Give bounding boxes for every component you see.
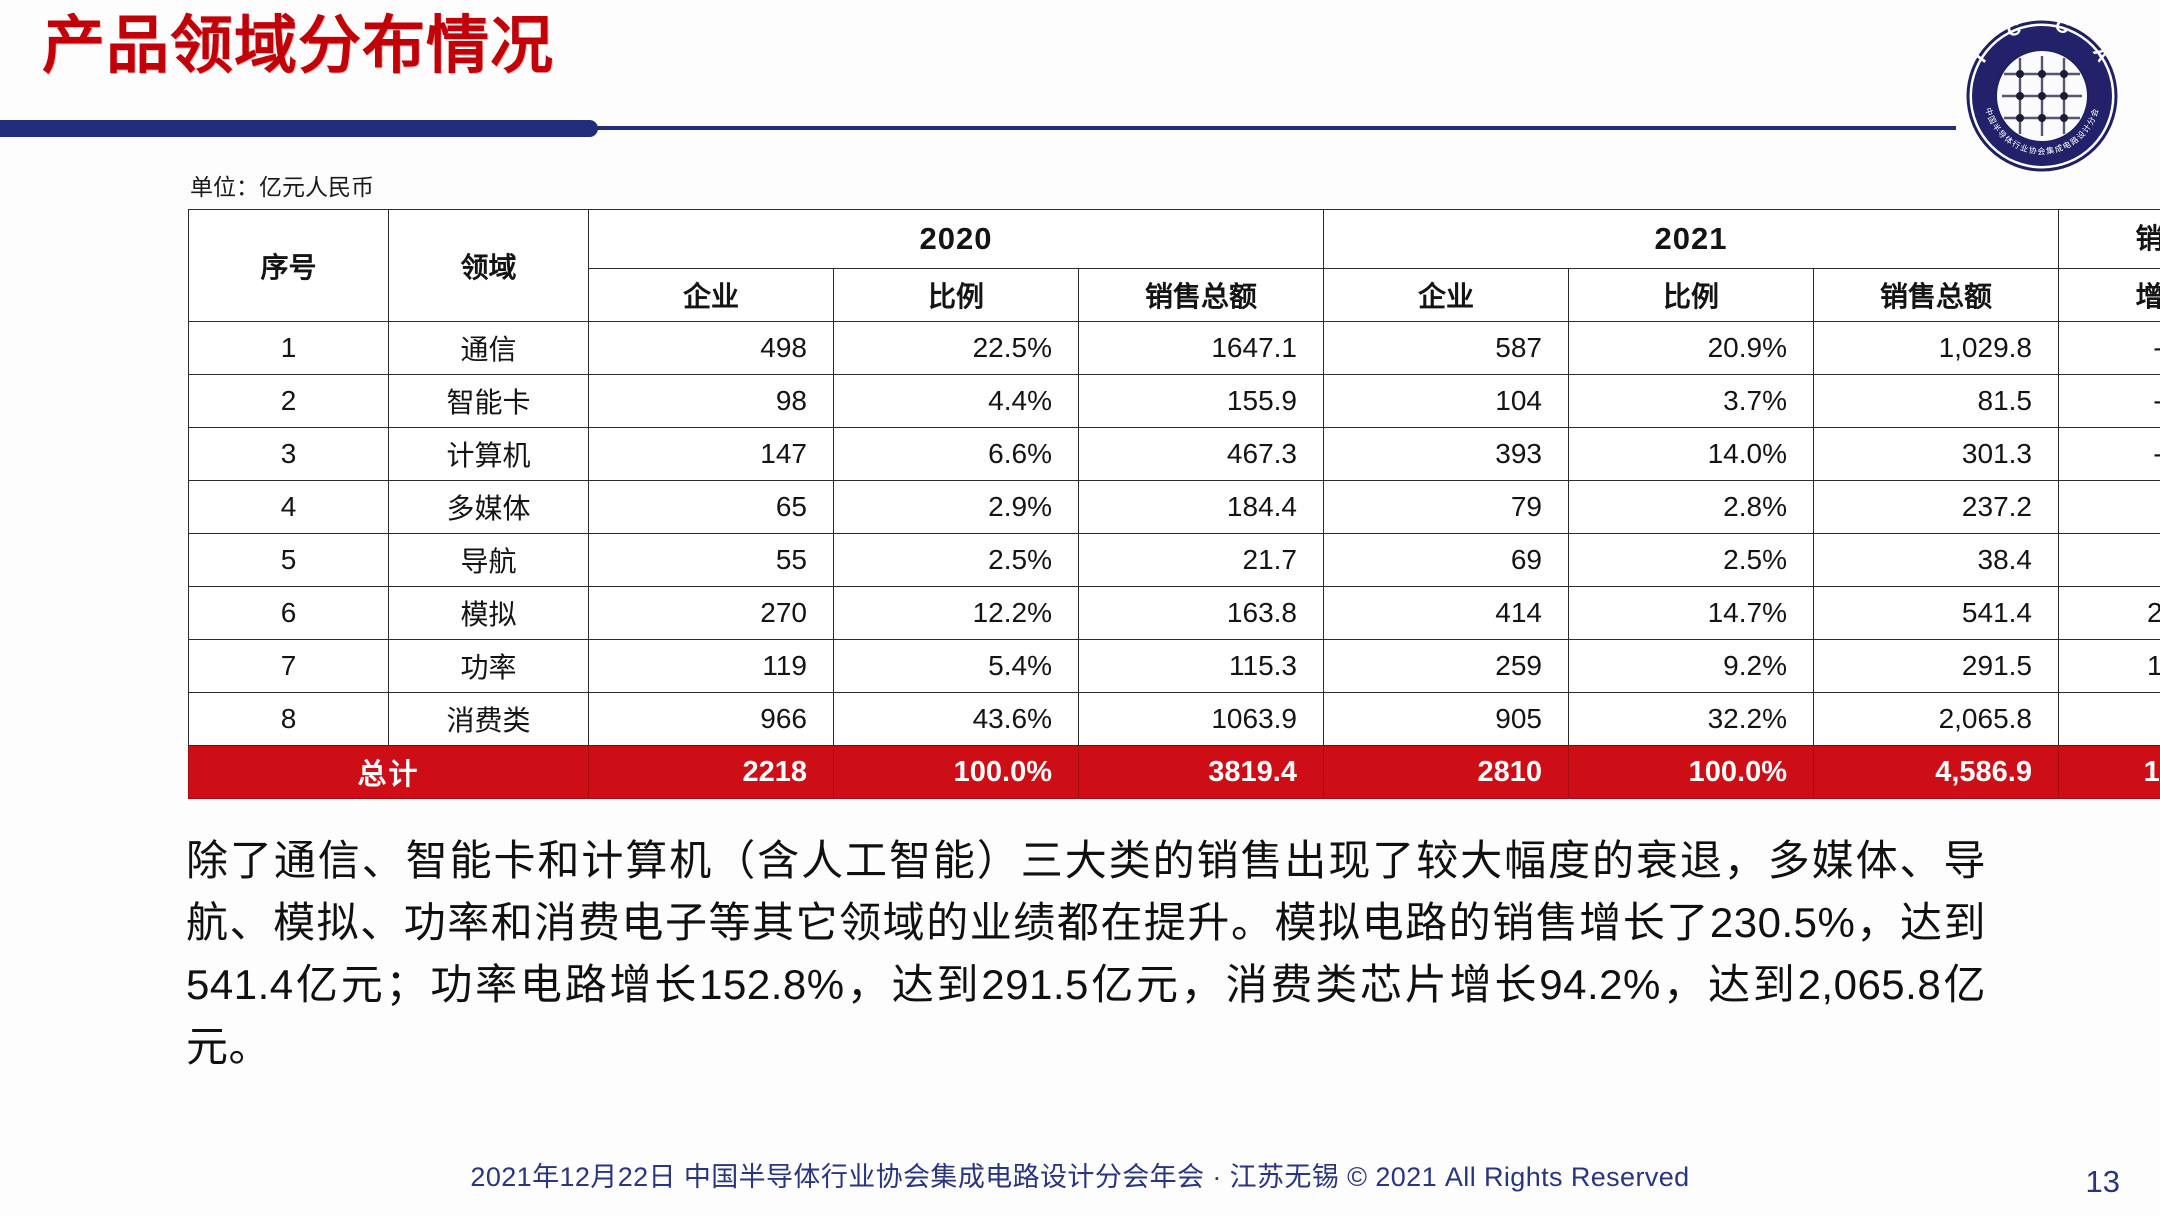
cell-field: 通信 xyxy=(389,322,589,375)
table-row: 4 多媒体 65 2.9% 184.4 79 2.8% 237.2 28.6% xyxy=(189,481,2160,534)
cell-index: 6 xyxy=(189,587,389,640)
cell-ent-2020: 270 xyxy=(589,587,834,640)
cell-pct-2021: 32.2% xyxy=(1569,693,1814,746)
table-row: 8 消费类 966 43.6% 1063.9 905 32.2% 2,065.8… xyxy=(189,693,2160,746)
cell-total-ent-2021: 2810 xyxy=(1324,746,1569,799)
cell-pct-2020: 12.2% xyxy=(834,587,1079,640)
cell-ent-2021: 104 xyxy=(1324,375,1569,428)
cell-index: 5 xyxy=(189,534,389,587)
cell-sales-2020: 1063.9 xyxy=(1079,693,1324,746)
cell-total-growth: 100.0% xyxy=(2059,746,2160,799)
unit-label: 单位：亿元人民币 xyxy=(190,168,374,202)
cell-growth: 28.6% xyxy=(2059,481,2160,534)
cell-growth: 77.0% xyxy=(2059,534,2160,587)
cell-pct-2020: 22.5% xyxy=(834,322,1079,375)
cell-pct-2021: 2.8% xyxy=(1569,481,1814,534)
th-ratio-2021: 比例 xyxy=(1569,269,1814,322)
th-sales-2020: 销售总额 xyxy=(1079,269,1324,322)
body-paragraph: 除了通信、智能卡和计算机（含人工智能）三大类的销售出现了较大幅度的衰退，多媒体、… xyxy=(186,830,1986,1079)
table-body: 1 通信 498 22.5% 1647.1 587 20.9% 1,029.8 … xyxy=(189,322,2160,799)
table-row: 1 通信 498 22.5% 1647.1 587 20.9% 1,029.8 … xyxy=(189,322,2160,375)
iccad-logo-icon: I C C A D 中国半导体行业协会集成电路设计分会 xyxy=(1954,8,2130,184)
cell-sales-2020: 21.7 xyxy=(1079,534,1324,587)
cell-index: 2 xyxy=(189,375,389,428)
cell-sales-2021: 291.5 xyxy=(1814,640,2059,693)
slide: 产品领域分布情况 xyxy=(0,0,2160,1216)
cell-ent-2020: 147 xyxy=(589,428,834,481)
cell-ent-2021: 259 xyxy=(1324,640,1569,693)
cell-index: 1 xyxy=(189,322,389,375)
cell-ent-2021: 393 xyxy=(1324,428,1569,481)
cell-pct-2021: 14.0% xyxy=(1569,428,1814,481)
cell-growth: -35.5% xyxy=(2059,428,2160,481)
cell-growth: 152.8% xyxy=(2059,640,2160,693)
cell-ent-2021: 79 xyxy=(1324,481,1569,534)
cell-ent-2020: 65 xyxy=(589,481,834,534)
cell-pct-2020: 2.9% xyxy=(834,481,1079,534)
table-row: 2 智能卡 98 4.4% 155.9 104 3.7% 81.5 -47.7% xyxy=(189,375,2160,428)
cell-sales-2021: 38.4 xyxy=(1814,534,2059,587)
cell-sales-2021: 2,065.8 xyxy=(1814,693,2059,746)
cell-ent-2021: 69 xyxy=(1324,534,1569,587)
cell-ent-2020: 55 xyxy=(589,534,834,587)
cell-pct-2020: 43.6% xyxy=(834,693,1079,746)
cell-sales-2020: 184.4 xyxy=(1079,481,1324,534)
cell-ent-2020: 119 xyxy=(589,640,834,693)
cell-field: 多媒体 xyxy=(389,481,589,534)
data-table: 序号 领域 2020 2021 销售 企业 比例 销售总额 企业 比例 销售总额… xyxy=(188,209,2160,799)
cell-field: 智能卡 xyxy=(389,375,589,428)
page-number: 13 xyxy=(2086,1164,2120,1200)
cell-total-ent-2020: 2218 xyxy=(589,746,834,799)
cell-index: 7 xyxy=(189,640,389,693)
table-header: 序号 领域 2020 2021 销售 企业 比例 销售总额 企业 比例 销售总额… xyxy=(189,210,2160,322)
cell-sales-2020: 467.3 xyxy=(1079,428,1324,481)
table-row: 7 功率 119 5.4% 115.3 259 9.2% 291.5 152.8… xyxy=(189,640,2160,693)
cell-index: 8 xyxy=(189,693,389,746)
th-group-2021: 2021 xyxy=(1324,210,2059,269)
cell-sales-2021: 301.3 xyxy=(1814,428,2059,481)
cell-pct-2020: 6.6% xyxy=(834,428,1079,481)
cell-sales-2021: 237.2 xyxy=(1814,481,2059,534)
cell-growth: -47.7% xyxy=(2059,375,2160,428)
th-field: 领域 xyxy=(389,210,589,322)
th-index: 序号 xyxy=(189,210,389,322)
cell-growth: 230.5% xyxy=(2059,587,2160,640)
cell-pct-2021: 3.7% xyxy=(1569,375,1814,428)
cell-ent-2021: 905 xyxy=(1324,693,1569,746)
iccad-logo: I C C A D 中国半导体行业协会集成电路设计分会 xyxy=(1954,8,2130,184)
cell-field: 计算机 xyxy=(389,428,589,481)
cell-total-pct-2021: 100.0% xyxy=(1569,746,1814,799)
cell-sales-2021: 81.5 xyxy=(1814,375,2059,428)
cell-total-sales-2021: 4,586.9 xyxy=(1814,746,2059,799)
cell-total-pct-2020: 100.0% xyxy=(834,746,1079,799)
cell-index: 4 xyxy=(189,481,389,534)
cell-total-label: 总计 xyxy=(189,746,589,799)
th-growth-line2: 增长 xyxy=(2059,269,2160,322)
table-row: 6 模拟 270 12.2% 163.8 414 14.7% 541.4 230… xyxy=(189,587,2160,640)
th-growth-line1: 销售 xyxy=(2059,210,2160,269)
table-row: 5 导航 55 2.5% 21.7 69 2.5% 38.4 77.0% xyxy=(189,534,2160,587)
th-group-2020: 2020 xyxy=(589,210,1324,269)
cell-pct-2020: 5.4% xyxy=(834,640,1079,693)
cell-field: 功率 xyxy=(389,640,589,693)
cell-index: 3 xyxy=(189,428,389,481)
th-enterprise-2020: 企业 xyxy=(589,269,834,322)
cell-sales-2020: 155.9 xyxy=(1079,375,1324,428)
cell-sales-2021: 541.4 xyxy=(1814,587,2059,640)
cell-ent-2021: 587 xyxy=(1324,322,1569,375)
cell-ent-2020: 498 xyxy=(589,322,834,375)
page-title: 产品领域分布情况 xyxy=(42,12,554,81)
cell-pct-2020: 2.5% xyxy=(834,534,1079,587)
cell-ent-2020: 98 xyxy=(589,375,834,428)
table-header-row-1: 序号 领域 2020 2021 销售 xyxy=(189,210,2160,269)
cell-pct-2021: 2.5% xyxy=(1569,534,1814,587)
cell-field: 消费类 xyxy=(389,693,589,746)
cell-field: 模拟 xyxy=(389,587,589,640)
cell-pct-2021: 20.9% xyxy=(1569,322,1814,375)
cell-pct-2021: 9.2% xyxy=(1569,640,1814,693)
title-rule-thin xyxy=(596,126,1956,130)
cell-field: 导航 xyxy=(389,534,589,587)
title-rule-thick xyxy=(0,120,598,137)
cell-sales-2020: 115.3 xyxy=(1079,640,1324,693)
th-enterprise-2021: 企业 xyxy=(1324,269,1569,322)
cell-sales-2020: 163.8 xyxy=(1079,587,1324,640)
product-field-table: 序号 领域 2020 2021 销售 企业 比例 销售总额 企业 比例 销售总额… xyxy=(188,209,1978,799)
table-total-row: 总计 2218 100.0% 3819.4 2810 100.0% 4,586.… xyxy=(189,746,2160,799)
cell-growth: -37.5% xyxy=(2059,322,2160,375)
title-area: 产品领域分布情况 xyxy=(0,0,2160,150)
cell-ent-2021: 414 xyxy=(1324,587,1569,640)
cell-total-sales-2020: 3819.4 xyxy=(1079,746,1324,799)
table-row: 3 计算机 147 6.6% 467.3 393 14.0% 301.3 -35… xyxy=(189,428,2160,481)
th-sales-2021: 销售总额 xyxy=(1814,269,2059,322)
cell-pct-2020: 4.4% xyxy=(834,375,1079,428)
footer-text: 2021年12月22日 中国半导体行业协会集成电路设计分会年会 · 江苏无锡 ©… xyxy=(0,1155,2160,1194)
cell-growth: 94.2% xyxy=(2059,693,2160,746)
cell-sales-2021: 1,029.8 xyxy=(1814,322,2059,375)
th-ratio-2020: 比例 xyxy=(834,269,1079,322)
cell-pct-2021: 14.7% xyxy=(1569,587,1814,640)
cell-sales-2020: 1647.1 xyxy=(1079,322,1324,375)
cell-ent-2020: 966 xyxy=(589,693,834,746)
